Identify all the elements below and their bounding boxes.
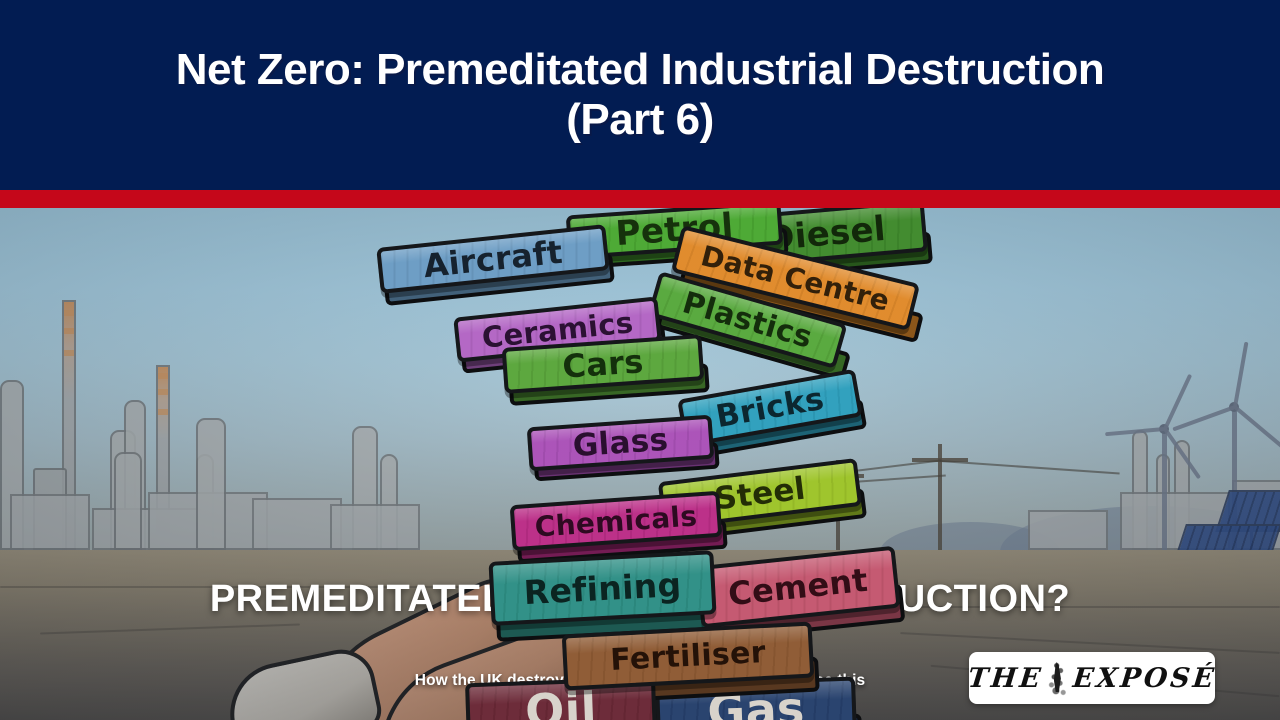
jenga-block-label: Cement xyxy=(726,561,869,613)
jenga-block-label: Glass xyxy=(572,422,670,465)
header-red-divider xyxy=(0,190,1280,208)
jenga-block-label: Steel xyxy=(712,471,807,518)
logo-word-expose: EXPOSÉ xyxy=(1071,663,1218,694)
jenga-block-label: Refining xyxy=(523,564,683,611)
jenga-block-label: Fertiliser xyxy=(609,634,766,677)
slide-canvas: Net Zero: Premeditated Industrial Destru… xyxy=(0,0,1280,720)
jenga-block-label: Chemicals xyxy=(534,499,699,543)
logo-word-the: THE xyxy=(966,663,1044,694)
the-expose-logo[interactable]: THE EXPOSÉ xyxy=(969,652,1215,704)
statue-figure-icon xyxy=(1043,656,1073,700)
jenga-block: Refining xyxy=(488,550,716,626)
jenga-block-label: Cars xyxy=(561,342,645,386)
page-title: Net Zero: Premeditated Industrial Destru… xyxy=(176,45,1105,145)
illustration-scene: PetrolDieselAircraftData CentreCeramicsP… xyxy=(0,208,1280,720)
header-bar: Net Zero: Premeditated Industrial Destru… xyxy=(0,0,1280,190)
